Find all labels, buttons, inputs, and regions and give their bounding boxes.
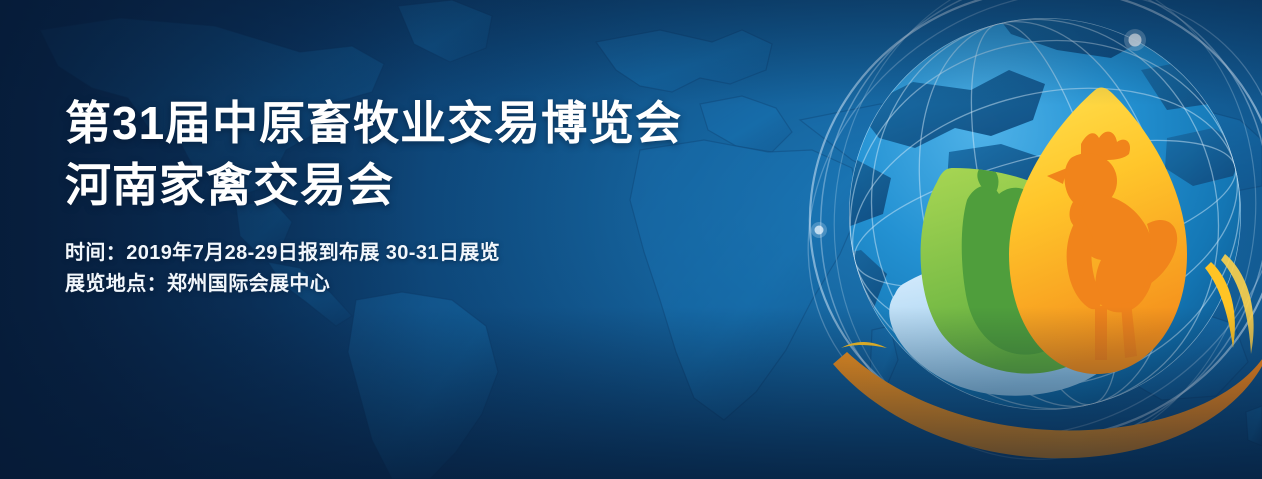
banner-title-line-1: 第31届中原畜牧业交易博览会 — [65, 92, 785, 154]
banner-venue-line: 展览地点：郑州国际会展中心 — [65, 269, 785, 300]
expo-banner: 第31届中原畜牧业交易博览会 河南家禽交易会 时间：2019年7月28-29日报… — [0, 0, 1262, 479]
banner-date-line: 时间：2019年7月28-29日报到布展 30-31日展览 — [65, 238, 785, 269]
banner-text-block: 第31届中原畜牧业交易博览会 河南家禽交易会 时间：2019年7月28-29日报… — [65, 92, 785, 300]
banner-info-block: 时间：2019年7月28-29日报到布展 30-31日展览 展览地点：郑州国际会… — [65, 238, 785, 300]
banner-title-line-2: 河南家禽交易会 — [65, 154, 785, 216]
